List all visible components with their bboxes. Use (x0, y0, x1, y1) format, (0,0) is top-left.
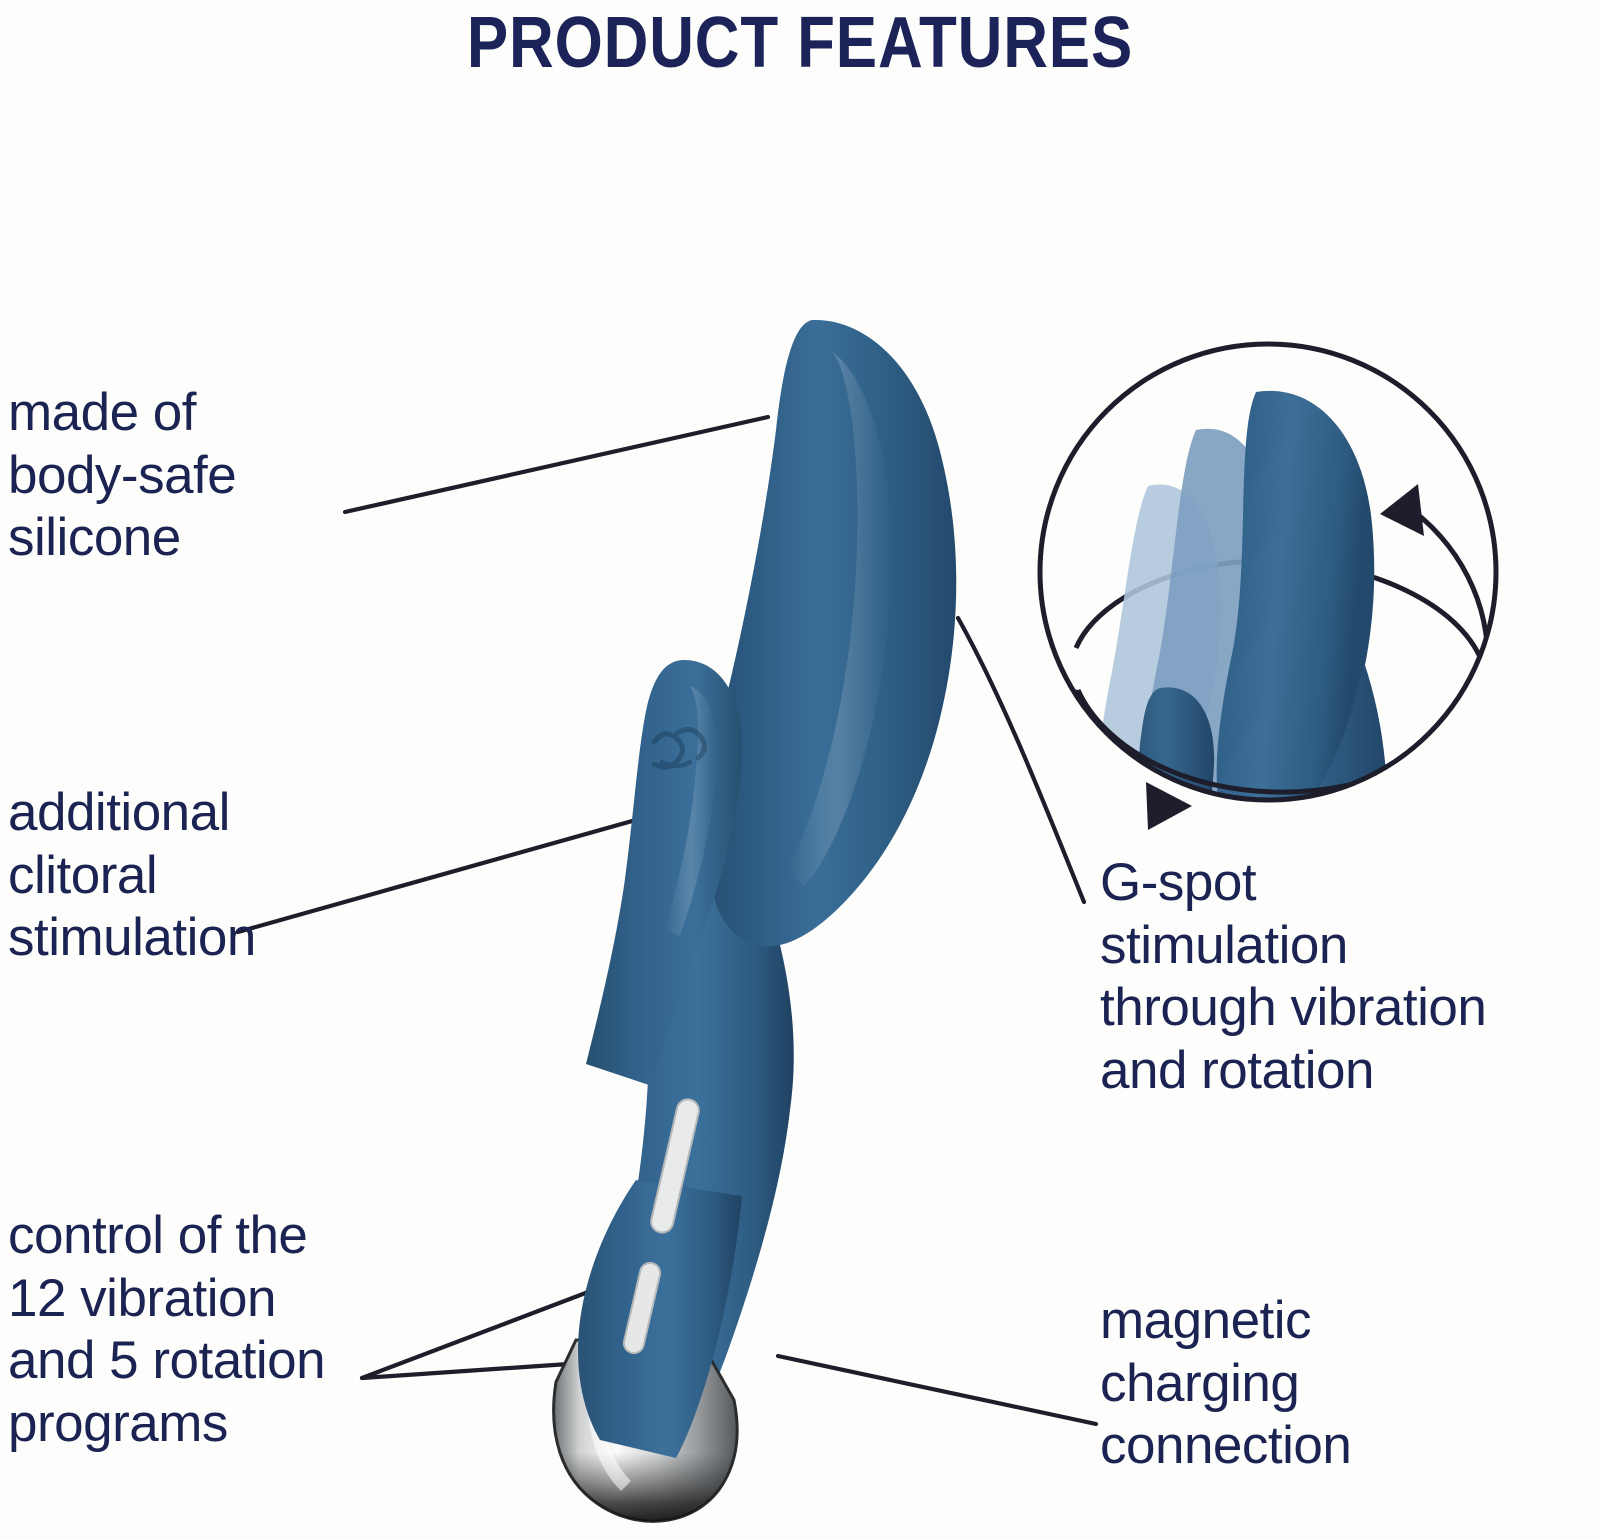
product-features-diagram: PRODUCT FEATURES (0, 0, 1600, 1539)
callout-label-magnetic-charging: magnetic charging connection (1100, 1290, 1590, 1478)
callout-label-gspot-stimulation: G-spot stimulation through vibration and… (1100, 852, 1600, 1102)
rotation-arrowhead-right (1380, 484, 1424, 536)
leader-line-gspot (958, 618, 1084, 902)
product-illustration (554, 320, 957, 1521)
leader-line-magnetic (778, 1356, 1096, 1424)
rotation-head-seam (1228, 796, 1368, 845)
product-main-shaft (707, 320, 956, 947)
callout-label-vibration-rotation-programs: control of the 12 vibration and 5 rotati… (8, 1205, 478, 1455)
callout-label-body-safe-silicone: made of body-safe silicone (8, 382, 438, 570)
callout-label-clitoral-stimulation: additional clitoral stimulation (8, 782, 438, 970)
rotation-arrowhead-left (1146, 782, 1192, 830)
